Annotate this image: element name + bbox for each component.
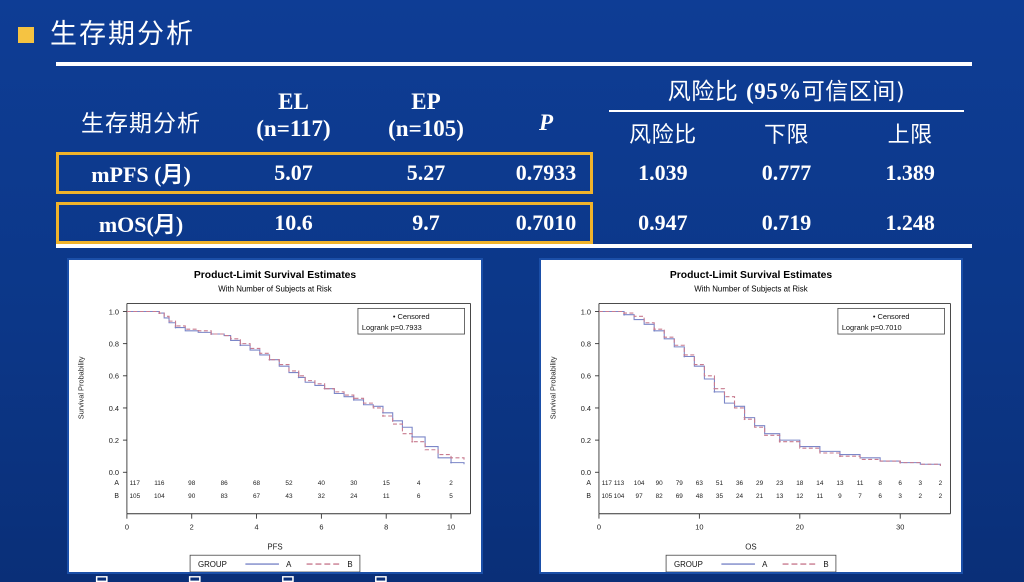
svg-text:51: 51 [716,480,724,487]
square-bullet-icon [18,27,34,43]
cell-mpfs-lower: 0.777 [725,160,849,186]
svg-text:0: 0 [597,523,601,532]
svg-text:9: 9 [838,493,842,500]
column-header-p: P [491,110,601,152]
cell-mpfs-upper: 1.389 [848,160,972,186]
table-row: mPFS (月) 5.07 5.27 0.7933 1.039 0.777 1.… [56,152,972,194]
svg-text:43: 43 [285,493,293,500]
svg-text:29: 29 [756,480,764,487]
column-header-hr: 风险比 [601,117,725,149]
column-header-el: EL (n=117) [226,89,361,152]
svg-text:With Number of Subjects at Ris: With Number of Subjects at Risk [218,285,331,294]
svg-text:18: 18 [796,480,804,487]
svg-text:GROUP: GROUP [198,560,227,569]
svg-text:2: 2 [939,480,943,487]
svg-text:117: 117 [130,480,141,487]
svg-text:11: 11 [817,493,824,500]
svg-text:10: 10 [695,523,703,532]
table-bottom-rule [56,244,972,248]
svg-text:83: 83 [221,493,229,500]
chart-pfs-svg: Product-Limit Survival EstimatesWith Num… [69,260,481,572]
column-header-metric: 生存期分析 [56,104,226,152]
column-header-ep-n: (n=105) [361,116,491,142]
cell-mos-lower: 0.719 [725,210,849,236]
hr-group-prefix: 风险比 [668,79,746,105]
svg-text:B: B [586,493,591,500]
svg-text:Logrank p=0.7933: Logrank p=0.7933 [362,323,422,332]
svg-text:20: 20 [796,523,804,532]
svg-text:0.4: 0.4 [581,404,591,413]
svg-text:Product-Limit Survival Estimat: Product-Limit Survival Estimates [194,270,357,281]
svg-text:98: 98 [188,480,196,487]
svg-text:79: 79 [676,480,684,487]
cell-mos-upper: 1.248 [848,210,972,236]
svg-text:5: 5 [449,493,453,500]
chart-os-survival: Product-Limit Survival EstimatesWith Num… [539,258,963,574]
cell-mos-hr: 0.947 [601,210,725,236]
svg-text:• Censored: • Censored [393,312,430,321]
slide-title-row: 生存期分析 [18,12,195,51]
svg-text:B: B [823,560,828,569]
svg-text:104: 104 [614,493,625,500]
svg-text:24: 24 [736,493,744,500]
table-body: mPFS (月) 5.07 5.27 0.7933 1.039 0.777 1.… [56,152,972,248]
svg-text:0.8: 0.8 [109,340,119,349]
svg-text:90: 90 [656,480,664,487]
table-header-left: 生存期分析 EL (n=117) EP (n=105) P [56,66,601,152]
svg-text:97: 97 [636,493,644,500]
svg-text:PFS: PFS [267,542,282,551]
svg-text:Survival Probability: Survival Probability [549,356,558,419]
column-header-lower: 下限 [725,117,849,149]
hr-group-suffix: 可信区间) [802,79,905,105]
svg-text:117: 117 [602,480,613,487]
svg-text:7: 7 [858,493,862,500]
svg-text:13: 13 [776,493,784,500]
svg-text:3: 3 [898,493,902,500]
svg-text:4: 4 [417,480,421,487]
cell-mos-p: 0.7010 [491,210,601,236]
column-header-ep: EP (n=105) [361,89,491,152]
svg-text:36: 36 [736,480,744,487]
svg-text:• Censored: • Censored [873,312,910,321]
svg-text:6: 6 [319,523,323,532]
svg-text:0.2: 0.2 [581,436,591,445]
cell-mos-ep: 9.7 [361,210,491,236]
svg-text:86: 86 [221,480,229,487]
svg-text:0.0: 0.0 [109,468,119,477]
svg-text:24: 24 [350,493,358,500]
svg-text:A: A [114,480,119,487]
svg-text:8: 8 [878,480,882,487]
svg-text:0.6: 0.6 [109,372,119,381]
svg-text:21: 21 [756,493,764,500]
hr-group-bold: (95% [746,79,802,104]
svg-text:0: 0 [125,523,129,532]
svg-text:1.0: 1.0 [109,307,119,316]
svg-text:0.0: 0.0 [581,468,591,477]
table-header-right: 风险比 (95%可信区间) 风险比 下限 上限 [601,66,972,152]
footer-glyph-row: 月 月 月 月 [92,574,1024,582]
svg-text:48: 48 [696,493,704,500]
svg-text:0.6: 0.6 [581,372,591,381]
svg-text:Product-Limit Survival Estimat: Product-Limit Survival Estimates [670,270,833,281]
svg-text:2: 2 [190,523,194,532]
table-row: mOS(月) 10.6 9.7 0.7010 0.947 0.719 1.248 [56,202,972,244]
svg-text:82: 82 [656,493,664,500]
svg-text:11: 11 [383,493,390,500]
svg-text:67: 67 [253,493,261,500]
cell-mpfs-p: 0.7933 [491,160,601,186]
chart-os-svg: Product-Limit Survival EstimatesWith Num… [541,260,961,572]
svg-text:2: 2 [939,493,943,500]
column-header-ep-name: EP [361,89,491,115]
svg-text:3: 3 [919,480,923,487]
svg-text:52: 52 [285,480,293,487]
svg-text:13: 13 [836,480,844,487]
svg-text:A: A [586,480,591,487]
cell-mpfs-el: 5.07 [226,160,361,186]
svg-text:6: 6 [417,493,421,500]
svg-text:63: 63 [696,480,704,487]
svg-text:116: 116 [154,480,165,487]
svg-text:GROUP: GROUP [674,560,703,569]
column-header-upper: 上限 [848,117,972,149]
svg-text:B: B [347,560,352,569]
table-header: 生存期分析 EL (n=117) EP (n=105) P 风险比 (95%可信… [56,66,972,152]
svg-text:2: 2 [919,493,923,500]
svg-text:0.4: 0.4 [109,404,119,413]
slide-canvas: 生存期分析 生存期分析 EL (n=117) EP (n=105) P 风险比 … [0,0,1024,582]
row-label-mos: mOS(月) [56,207,226,239]
svg-text:Logrank p=0.7010: Logrank p=0.7010 [842,323,902,332]
svg-text:8: 8 [384,523,388,532]
results-table: 生存期分析 EL (n=117) EP (n=105) P 风险比 (95%可信… [56,62,972,248]
svg-text:12: 12 [796,493,804,500]
svg-text:10: 10 [447,523,455,532]
cut-off-footer-text: 月 月 月 月 [0,574,1024,582]
svg-text:B: B [114,493,119,500]
svg-text:32: 32 [318,493,326,500]
svg-text:6: 6 [898,480,902,487]
column-header-hazard-ratio-group: 风险比 (95%可信区间) [601,66,972,106]
cells-mpfs-hr: 1.039 0.777 1.389 [601,160,972,186]
svg-text:0.8: 0.8 [581,340,591,349]
cell-mos-el: 10.6 [226,210,361,236]
svg-text:35: 35 [716,493,724,500]
svg-text:104: 104 [634,480,645,487]
svg-text:Survival Probability: Survival Probability [76,356,85,419]
cell-mpfs-ep: 5.27 [361,160,491,186]
svg-text:14: 14 [816,480,824,487]
svg-text:11: 11 [857,480,864,487]
cells-mos-hr: 0.947 0.719 1.248 [601,210,972,236]
svg-text:30: 30 [350,480,358,487]
svg-text:90: 90 [188,493,196,500]
svg-text:40: 40 [318,480,326,487]
svg-text:4: 4 [254,523,258,532]
svg-text:6: 6 [878,493,882,500]
svg-text:15: 15 [383,480,391,487]
svg-text:104: 104 [154,493,165,500]
column-header-el-name: EL [226,89,361,115]
svg-text:105: 105 [601,493,612,500]
cell-mpfs-hr: 1.039 [601,160,725,186]
column-header-el-n: (n=117) [226,116,361,142]
svg-text:A: A [762,560,768,569]
svg-text:69: 69 [676,493,684,500]
svg-text:2: 2 [449,480,453,487]
hr-subcolumns: 风险比 下限 上限 [601,112,972,149]
svg-text:105: 105 [129,493,140,500]
svg-text:0.2: 0.2 [109,436,119,445]
chart-pfs-survival: Product-Limit Survival EstimatesWith Num… [67,258,483,574]
svg-text:30: 30 [896,523,904,532]
row-label-mpfs: mPFS (月) [56,157,226,189]
svg-text:A: A [286,560,292,569]
svg-text:1.0: 1.0 [581,307,591,316]
svg-text:68: 68 [253,480,261,487]
svg-text:113: 113 [614,480,625,487]
svg-text:OS: OS [745,542,756,551]
svg-text:23: 23 [776,480,784,487]
page-title: 生存期分析 [50,12,195,51]
svg-text:With Number of Subjects at Ris: With Number of Subjects at Risk [694,285,807,294]
